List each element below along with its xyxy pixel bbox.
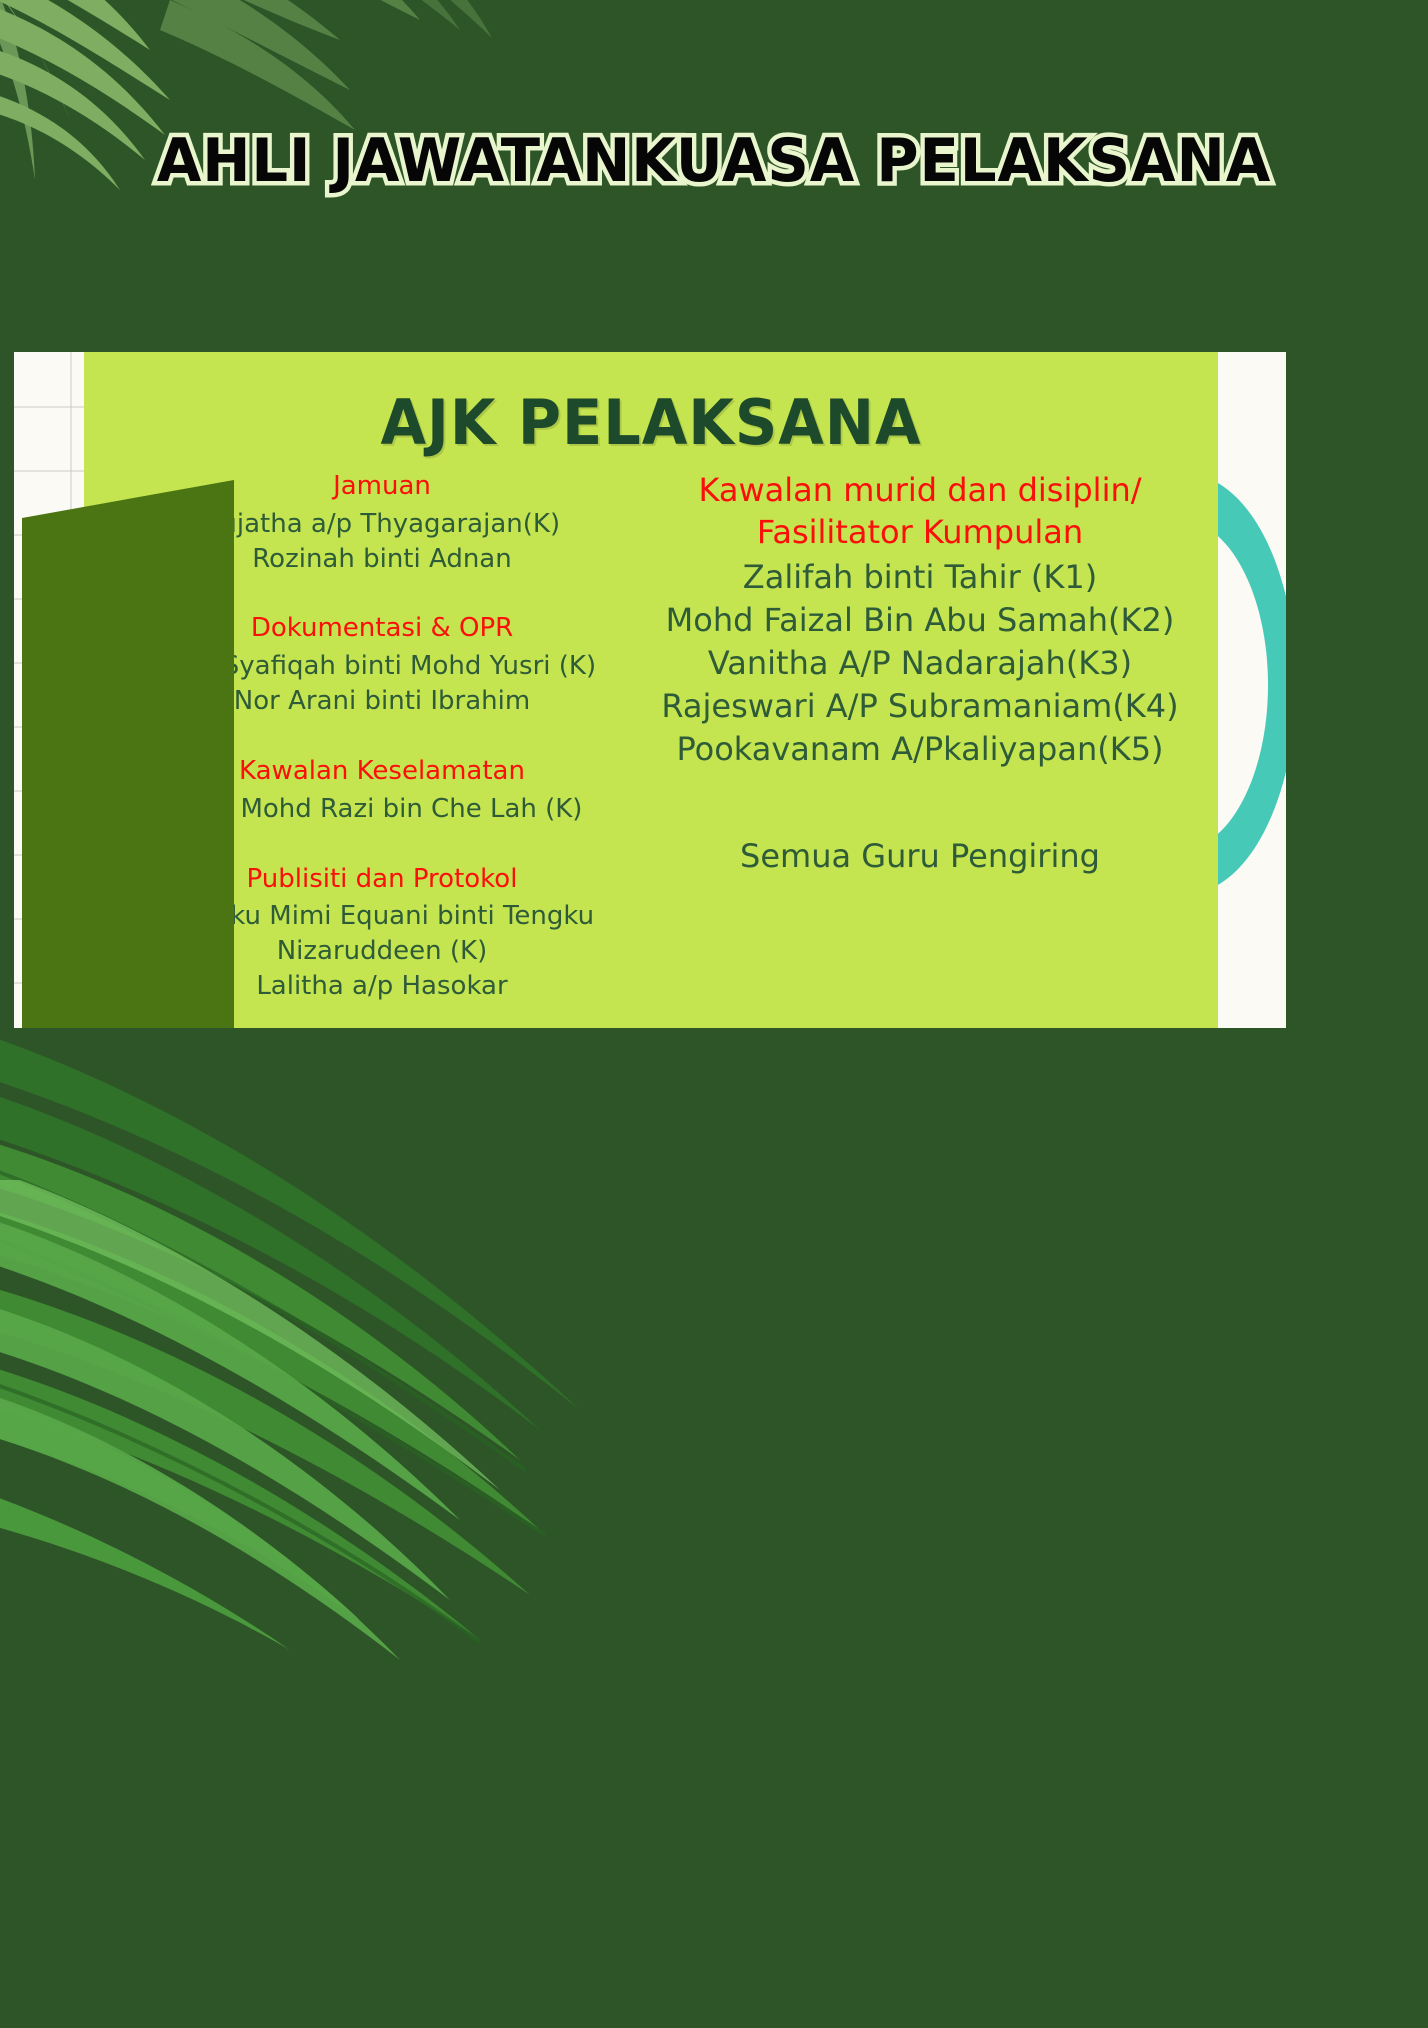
member-name: Mohd Faizal Bin Abu Samah(K2) <box>652 599 1188 642</box>
committee-columns: Jamuan Sujatha a/p Thyagarajan(K) Rozina… <box>84 470 1218 1020</box>
olive-parallelogram-decoration <box>22 480 234 1028</box>
right-column: Kawalan murid dan disiplin/ Fasilitator … <box>644 470 1218 1020</box>
member-name: Rajeswari A/P Subramaniam(K4) <box>652 685 1188 728</box>
palm-leaf-bottom-left-secondary-icon <box>0 1180 700 1680</box>
green-panel: AJK PELAKSANA Jamuan Sujatha a/p Thyagar… <box>84 352 1218 1028</box>
member-name: Pookavanam A/Pkaliyapan(K5) <box>652 728 1188 771</box>
column-spacer <box>652 801 1188 835</box>
page-title: AHLI JAWATANKUASA PELAKSANA <box>29 126 1400 196</box>
palm-leaf-bottom-left-icon <box>0 1030 800 1650</box>
section-semua-guru-pengiring: Semua Guru Pengiring <box>652 835 1188 878</box>
member-name: Vanitha A/P Nadarajah(K3) <box>652 642 1188 685</box>
content-card: AJK PELAKSANA Jamuan Sujatha a/p Thyagar… <box>14 352 1286 1028</box>
section-kawalan-murid-disiplin: Kawalan murid dan disiplin/ Fasilitator … <box>652 470 1188 771</box>
member-name: Semua Guru Pengiring <box>652 835 1188 878</box>
member-name: Zalifah binti Tahir (K1) <box>652 556 1188 599</box>
card-title: AJK PELAKSANA <box>112 386 1189 459</box>
section-heading: Kawalan murid dan disiplin/ Fasilitator … <box>652 470 1188 553</box>
